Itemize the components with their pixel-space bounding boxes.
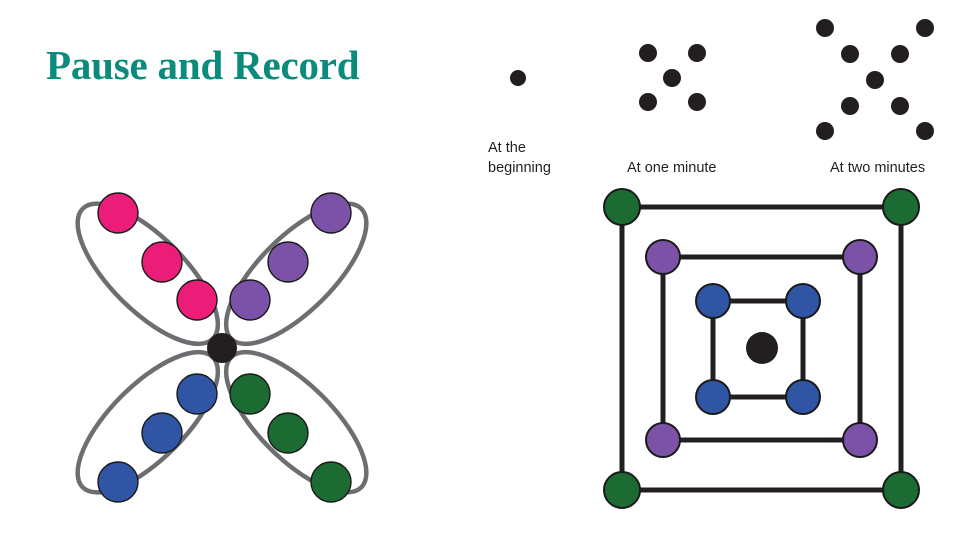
group-two-minutes-dot-6 <box>841 97 859 115</box>
group-two-minutes-dot-8 <box>816 122 834 140</box>
petal-dot-pink-1 <box>98 193 138 233</box>
petal-dot-purple-1 <box>311 193 351 233</box>
slide-canvas: Pause and Record At thebeginningAt one m… <box>0 0 978 550</box>
petal-dot-blue-2 <box>142 413 182 453</box>
dot-group-labels: At thebeginningAt one minuteAt two minut… <box>488 140 925 176</box>
square-center-dot <box>746 332 778 364</box>
ring-outer-green-bottom-right <box>883 472 919 508</box>
group-two-minutes-label: At two minutes <box>830 160 925 176</box>
petal-dot-blue-1 <box>98 462 138 502</box>
ring-inner-blue-top-right <box>786 284 820 318</box>
petal-dot-pink-3 <box>177 280 217 320</box>
group-one-minute-dot-5 <box>688 93 706 111</box>
ring-outer-green-bottom-left <box>604 472 640 508</box>
ring-middle-purple-top-left <box>646 240 680 274</box>
group-two-minutes-dot-4 <box>891 45 909 63</box>
petal-dot-blue-3 <box>177 374 217 414</box>
group-two-minutes-dot-2 <box>916 19 934 37</box>
flower-center-dot <box>207 333 237 363</box>
group-beginning-label: At the <box>488 140 526 156</box>
ring-outer-green-top-left <box>604 189 640 225</box>
ring-middle-purple-bottom-left <box>646 423 680 457</box>
ring-inner-blue-bottom-left <box>696 380 730 414</box>
ring-inner-blue-bottom-right <box>786 380 820 414</box>
petal-dot-purple-2 <box>268 242 308 282</box>
petal-dot-pink-2 <box>142 242 182 282</box>
ring-middle-purple-top-right <box>843 240 877 274</box>
petal-dot-purple-3 <box>230 280 270 320</box>
dot-groups <box>510 19 934 140</box>
petal-dot-green-2 <box>268 413 308 453</box>
flower-petal-diagram <box>20 170 430 530</box>
group-two-minutes-dot-1 <box>816 19 834 37</box>
group-one-minute-dot-2 <box>688 44 706 62</box>
group-one-minute-label: At one minute <box>627 160 716 176</box>
group-two-minutes-dot-7 <box>891 97 909 115</box>
group-beginning-label: beginning <box>488 160 551 176</box>
group-two-minutes-dot-3 <box>841 45 859 63</box>
ring-inner-blue-top-left <box>696 284 730 318</box>
group-two-minutes-dot-9 <box>916 122 934 140</box>
page-title: Pause and Record <box>46 44 359 87</box>
group-one-minute-dot-1 <box>639 44 657 62</box>
petal-dot-green-1 <box>311 462 351 502</box>
petal-dot-green-3 <box>230 374 270 414</box>
group-beginning-dot-1 <box>510 70 526 86</box>
group-one-minute-dot-4 <box>639 93 657 111</box>
group-two-minutes-dot-5 <box>866 71 884 89</box>
ring-outer-green-top-right <box>883 189 919 225</box>
ring-middle-purple-bottom-right <box>843 423 877 457</box>
group-one-minute-dot-3 <box>663 69 681 87</box>
right-figure-group: At thebeginningAt one minuteAt two minut… <box>470 0 978 550</box>
